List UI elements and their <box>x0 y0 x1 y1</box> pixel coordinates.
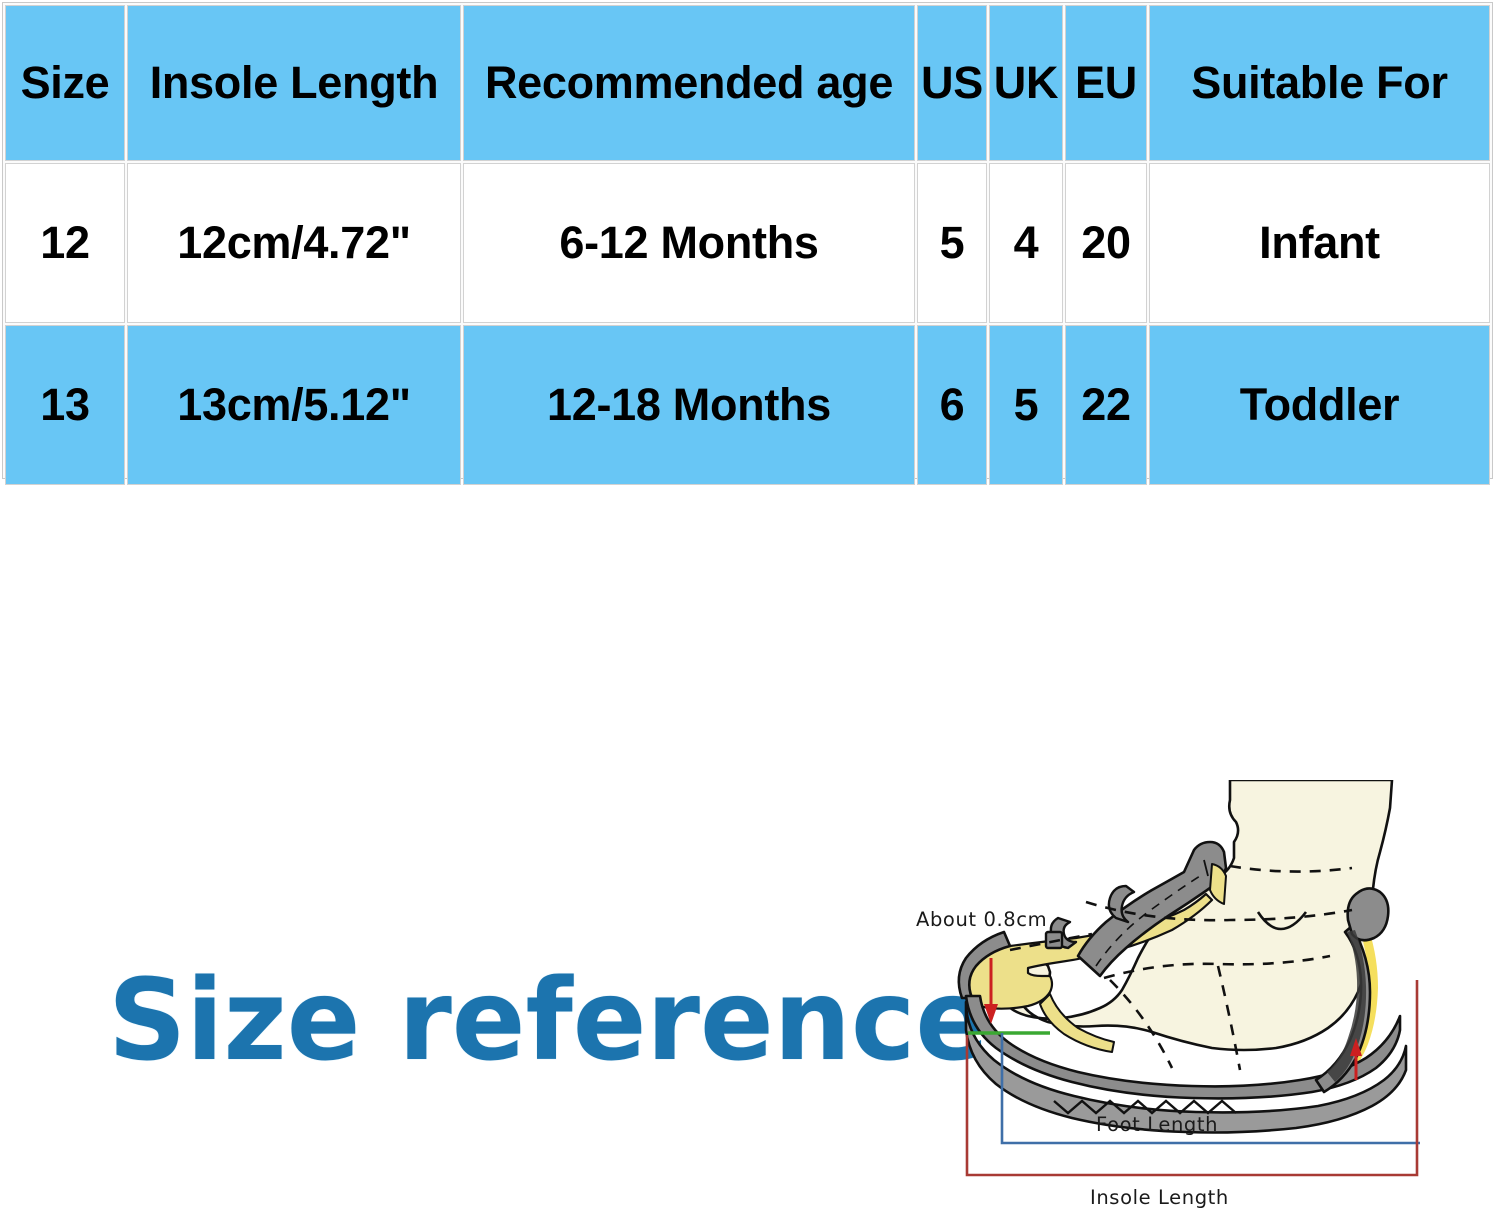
cell-age: 6-12 Months <box>463 163 915 323</box>
cell-suitable: Infant <box>1149 163 1490 323</box>
column-header-eu: EU <box>1065 5 1147 161</box>
cell-eu: 20 <box>1065 163 1147 323</box>
cell-suitable: Toddler <box>1149 325 1490 485</box>
gap-label: About 0.8cm <box>916 908 1047 931</box>
table-row: 13 13cm/5.12" 12-18 Months 6 5 22 Toddle… <box>5 325 1490 485</box>
column-header-suitable: Suitable For <box>1149 5 1490 161</box>
cell-uk: 5 <box>989 325 1063 485</box>
shoe-measurement-diagram: About 0.8cm Foot Length Insole Length <box>900 780 1500 1210</box>
cell-eu: 22 <box>1065 325 1147 485</box>
column-header-size: Size <box>5 5 125 161</box>
cell-size: 12 <box>5 163 125 323</box>
cell-size: 13 <box>5 325 125 485</box>
table-row: 12 12cm/4.72" 6-12 Months 5 4 20 Infant <box>5 163 1490 323</box>
cell-age: 12-18 Months <box>463 325 915 485</box>
cell-us: 6 <box>917 325 987 485</box>
cell-insole: 13cm/5.12" <box>127 325 461 485</box>
size-chart-grid: Size Insole Length Recommended age US UK… <box>3 3 1492 487</box>
foot-length-label: Foot Length <box>1096 1113 1218 1136</box>
cell-uk: 4 <box>989 163 1063 323</box>
cell-insole: 12cm/4.72" <box>127 163 461 323</box>
size-chart-table: Size Insole Length Recommended age US UK… <box>2 2 1493 479</box>
column-header-insole: Insole Length <box>127 5 461 161</box>
column-header-us: US <box>917 5 987 161</box>
table-header-row: Size Insole Length Recommended age US UK… <box>5 5 1490 161</box>
column-header-uk: UK <box>989 5 1063 161</box>
insole-length-label: Insole Length <box>1090 1186 1229 1209</box>
column-header-age: Recommended age <box>463 5 915 161</box>
page-title: Size reference <box>108 962 989 1080</box>
cell-us: 5 <box>917 163 987 323</box>
